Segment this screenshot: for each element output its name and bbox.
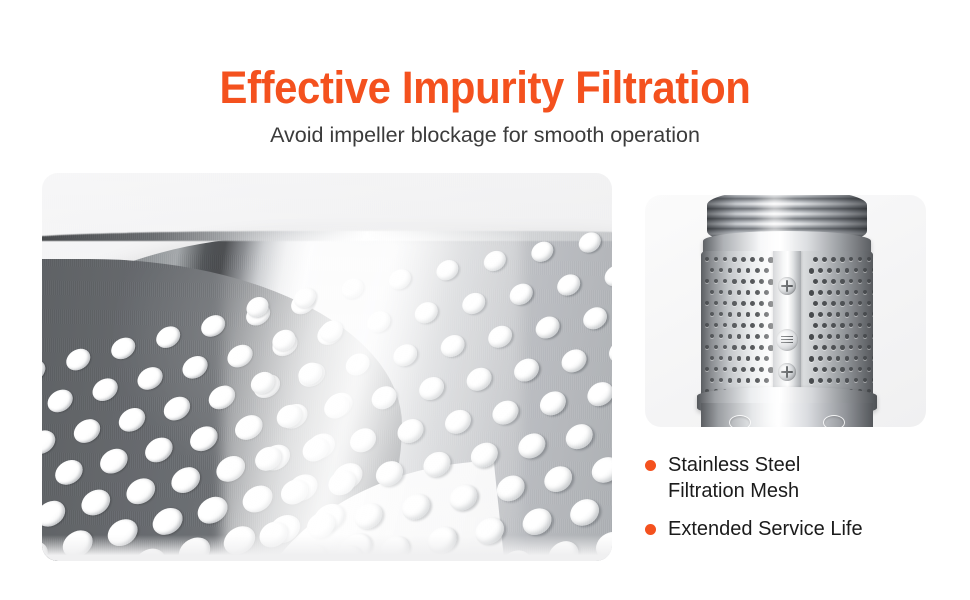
product-feature-banner: Effective Impurity Filtration Avoid impe… — [0, 0, 970, 600]
cylinder-dimple — [823, 415, 845, 427]
mesh-hole — [746, 334, 751, 339]
mesh-hole — [741, 279, 746, 284]
mesh-hole — [755, 290, 760, 295]
mesh-hole — [872, 334, 874, 338]
mesh-hole — [732, 323, 737, 328]
mesh-hole — [755, 356, 760, 361]
mesh-hole — [714, 367, 718, 371]
product-badge-icon — [776, 329, 798, 351]
mesh-hole — [867, 257, 871, 261]
mesh-hole — [728, 356, 733, 361]
mesh-hole — [831, 323, 836, 328]
mesh-hole — [723, 367, 727, 371]
mesh-hole — [854, 268, 858, 272]
mesh-hole — [723, 345, 727, 349]
mesh-hole — [714, 279, 718, 283]
mesh-sheet-top-edge — [42, 231, 612, 241]
mesh-hole — [831, 301, 836, 306]
mesh-hole — [746, 312, 751, 317]
mesh-hole — [755, 312, 760, 317]
cylinder-mesh-section — [701, 251, 873, 399]
mesh-hole — [813, 323, 818, 328]
mesh-hole — [737, 312, 742, 317]
mesh-hole — [849, 323, 853, 327]
cylinder-dimple — [729, 415, 751, 427]
mesh-hole — [863, 334, 867, 338]
mesh-hole — [719, 268, 723, 272]
mesh-hole — [822, 367, 827, 372]
screw-icon — [778, 277, 796, 295]
mesh-hole — [854, 378, 858, 382]
mesh-hole — [858, 279, 862, 283]
mesh-hole — [741, 301, 746, 306]
mesh-hole — [827, 312, 832, 317]
mesh-hole — [854, 356, 858, 360]
mesh-hole — [746, 378, 751, 383]
mesh-hole — [818, 290, 823, 295]
mesh-hole — [741, 345, 746, 350]
mesh-hole — [737, 334, 742, 339]
mesh-bottom-fade — [42, 535, 612, 561]
list-item: Extended Service Life — [645, 516, 955, 542]
mesh-hole — [719, 312, 723, 316]
mesh-hole — [818, 356, 823, 361]
mesh-hole — [822, 345, 827, 350]
mesh-hole — [813, 367, 818, 372]
list-item: Stainless Steel Filtration Mesh — [645, 452, 955, 504]
mesh-hole — [719, 290, 723, 294]
mesh-hole — [849, 257, 853, 261]
mesh-hole — [764, 312, 769, 317]
mesh-hole — [728, 290, 733, 295]
mesh-hole — [764, 356, 769, 361]
mesh-hole — [714, 323, 718, 327]
mesh-hole — [840, 257, 845, 262]
mesh-hole — [705, 367, 709, 371]
mesh-hole — [858, 345, 862, 349]
mesh-hole — [840, 279, 845, 284]
mesh-hole — [840, 323, 845, 328]
mesh-hole — [755, 268, 760, 273]
mesh-hole — [750, 301, 755, 306]
mesh-hole — [746, 290, 751, 295]
mesh-hole — [831, 279, 836, 284]
mesh-hole — [750, 345, 755, 350]
mesh-hole — [737, 268, 742, 273]
feature-label: Stainless Steel Filtration Mesh — [668, 452, 848, 504]
bullet-dot-icon — [645, 460, 656, 471]
mesh-hole — [732, 367, 737, 372]
mesh-hole — [759, 323, 764, 328]
mesh-hole — [827, 334, 832, 339]
mesh-hole — [750, 279, 755, 284]
feature-list: Stainless Steel Filtration Mesh Extended… — [645, 452, 955, 554]
mesh-hole — [867, 367, 871, 371]
mesh-hole — [719, 378, 723, 382]
mesh-hole — [813, 345, 818, 350]
mesh-hole — [836, 356, 841, 361]
mesh-hole — [809, 312, 815, 318]
mesh-hole — [854, 290, 858, 294]
mesh-hole — [732, 279, 737, 284]
mesh-hole — [836, 334, 841, 339]
perforated-mesh-illustration — [42, 173, 612, 561]
mesh-hole — [858, 323, 862, 327]
mesh-hole — [858, 367, 862, 371]
mesh-hole — [831, 345, 836, 350]
mesh-hole — [858, 257, 862, 261]
mesh-hole — [723, 301, 727, 305]
mesh-hole — [750, 323, 755, 328]
mesh-hole — [741, 367, 746, 372]
mesh-hole — [723, 323, 727, 327]
mesh-hole — [840, 367, 845, 372]
mesh-hole — [705, 345, 709, 349]
mesh-hole — [822, 257, 827, 262]
mesh-hole — [710, 334, 714, 338]
mesh-hole — [714, 345, 718, 349]
mesh-hole — [867, 323, 871, 327]
mesh-hole — [822, 301, 827, 306]
mesh-hole — [759, 257, 764, 262]
bullet-dot-icon — [645, 524, 656, 535]
mesh-hole — [858, 301, 862, 305]
mesh-hole — [863, 378, 867, 382]
mesh-hole — [719, 334, 723, 338]
mesh-hole — [728, 312, 733, 317]
mesh-hole — [863, 268, 867, 272]
mesh-hole — [827, 290, 832, 295]
mesh-hole — [755, 378, 760, 383]
mesh-hole — [809, 290, 815, 296]
mesh-hole — [759, 367, 764, 372]
strainer-product-image-panel — [645, 195, 926, 427]
mesh-hole — [849, 367, 853, 371]
mesh-hole — [764, 290, 769, 295]
mesh-hole — [867, 345, 871, 349]
mesh-hole — [827, 378, 832, 383]
mesh-hole — [854, 334, 858, 338]
mesh-hole — [714, 301, 718, 305]
mesh-hole — [750, 257, 755, 262]
mesh-hole — [813, 257, 818, 262]
mesh-hole — [845, 334, 850, 339]
mesh-hole — [710, 378, 714, 382]
mesh-hole — [710, 290, 714, 294]
mesh-hole — [831, 367, 836, 372]
mesh-hole — [831, 257, 836, 262]
page-title: Effective Impurity Filtration — [34, 62, 936, 114]
mesh-hole — [809, 356, 815, 362]
mesh-hole — [867, 279, 871, 283]
mesh-hole — [872, 312, 874, 316]
page-subtitle: Avoid impeller blockage for smooth opera… — [0, 120, 970, 150]
mesh-hole — [723, 257, 727, 261]
mesh-hole — [714, 257, 718, 261]
mesh-hole — [809, 378, 815, 384]
mesh-hole — [764, 334, 769, 339]
mesh-hole — [732, 301, 737, 306]
mesh-hole — [849, 345, 853, 349]
mesh-hole — [872, 356, 874, 360]
mesh-hole — [732, 257, 737, 262]
mesh-hole — [705, 301, 709, 305]
mesh-hole — [854, 312, 858, 316]
mesh-hole — [867, 301, 871, 305]
mesh-hole — [750, 367, 755, 372]
mesh-hole — [741, 323, 746, 328]
mesh-hole — [863, 356, 867, 360]
mesh-hole — [840, 345, 845, 350]
mesh-hole — [818, 312, 823, 317]
mesh-hole — [836, 378, 841, 383]
mesh-hole — [759, 345, 764, 350]
mesh-hole — [822, 323, 827, 328]
mesh-hole — [827, 356, 832, 361]
mesh-hole — [728, 334, 733, 339]
mesh-hole — [755, 334, 760, 339]
mesh-hole — [827, 268, 832, 273]
cylinder-center-strip — [773, 251, 801, 399]
mesh-hole — [705, 257, 709, 261]
mesh-hole — [845, 268, 850, 273]
mesh-hole — [836, 290, 841, 295]
mesh-hole — [719, 356, 723, 360]
mesh-hole — [872, 268, 874, 272]
mesh-hole — [872, 378, 874, 382]
mesh-hole — [764, 378, 769, 383]
mesh-hole — [741, 257, 746, 262]
mesh-hole — [836, 268, 841, 273]
mesh-hole — [813, 279, 818, 284]
mesh-hole — [809, 334, 815, 340]
mesh-hole — [737, 378, 742, 383]
mesh-hole — [705, 279, 709, 283]
mesh-hole — [818, 334, 823, 339]
mesh-hole — [813, 301, 818, 306]
mesh-hole — [710, 268, 714, 272]
mesh-hole — [863, 312, 867, 316]
mesh-hole — [845, 290, 850, 295]
mesh-hole — [818, 378, 823, 383]
mesh-hole — [710, 312, 714, 316]
mesh-hole — [728, 268, 733, 273]
mesh-hole — [705, 323, 709, 327]
mesh-hole — [728, 378, 733, 383]
mesh-hole — [759, 279, 764, 284]
mesh-hole — [849, 279, 853, 283]
mesh-hole — [849, 301, 853, 305]
strainer-cylinder-illustration — [645, 195, 926, 427]
mesh-hole — [723, 279, 727, 283]
mesh-hole — [737, 356, 742, 361]
mesh-hole — [710, 356, 714, 360]
mesh-hole — [840, 301, 845, 306]
mesh-hole — [732, 345, 737, 350]
feature-label: Extended Service Life — [668, 516, 863, 542]
screw-icon — [778, 363, 796, 381]
mesh-hole — [822, 279, 827, 284]
mesh-hole — [872, 290, 874, 294]
mesh-macro-image-panel — [42, 173, 612, 561]
cylinder-lower-body — [701, 403, 873, 427]
mesh-hole — [845, 378, 850, 383]
mesh-hole — [759, 301, 764, 306]
mesh-hole — [863, 290, 867, 294]
mesh-hole — [737, 290, 742, 295]
mesh-hole — [845, 356, 850, 361]
mesh-hole — [845, 312, 850, 317]
mesh-hole — [836, 312, 841, 317]
mesh-hole — [746, 268, 751, 273]
mesh-hole — [764, 268, 769, 273]
mesh-hole — [818, 268, 823, 273]
mesh-hole — [809, 268, 815, 274]
mesh-hole — [746, 356, 751, 361]
